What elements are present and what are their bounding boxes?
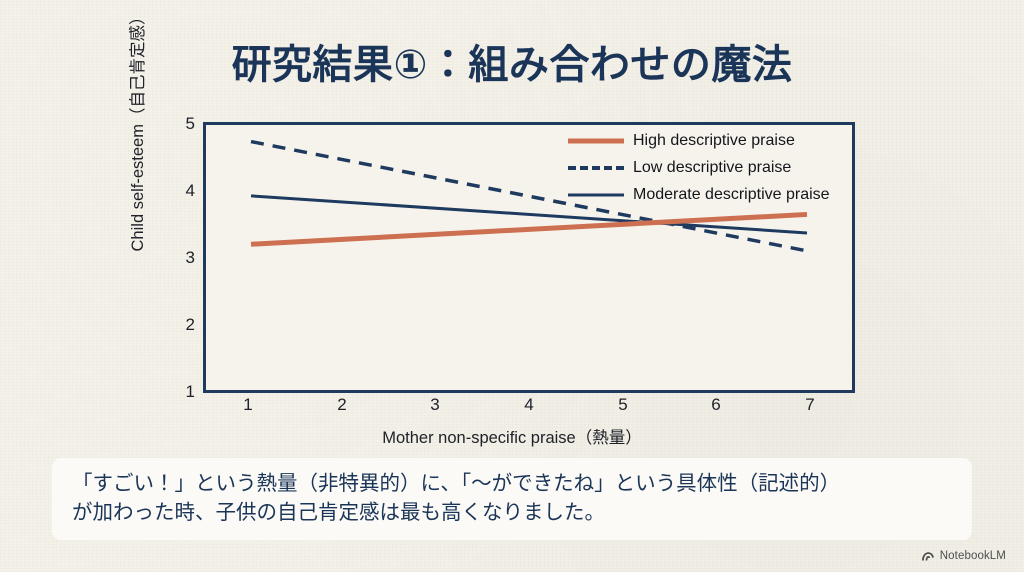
- x-axis-label: Mother non-specific praise（熱量）: [0, 424, 1024, 448]
- legend-label-moderate: Moderate descriptive praise: [633, 186, 830, 204]
- y-tick-4: 4: [169, 182, 195, 199]
- x-tick-5: 5: [603, 396, 643, 413]
- x-tick-4: 4: [509, 396, 549, 413]
- chart-legend: High descriptive praise Low descriptive …: [568, 130, 830, 206]
- caption-line-1: 「すごい！」という熱量（非特異的）に、「〜ができたね」という具体性（記述的）: [72, 469, 954, 498]
- x-tick-3: 3: [415, 396, 455, 413]
- y-tick-2: 2: [169, 316, 195, 333]
- notebooklm-logo-icon: [921, 550, 935, 562]
- legend-label-high: High descriptive praise: [633, 132, 795, 150]
- chart-container: Child self-esteem（自己肯定感） 5 4 3 2 1 High …: [0, 0, 1024, 452]
- watermark-label: NotebookLM: [940, 550, 1006, 562]
- x-tick-6: 6: [696, 396, 736, 413]
- y-axis-ticks: 5 4 3 2 1: [163, 0, 195, 452]
- x-tick-2: 2: [322, 396, 362, 413]
- legend-item-low: Low descriptive praise: [568, 157, 830, 179]
- caption-line-2: が加わった時、子供の自己肯定感は最も高くなりました。: [72, 498, 954, 527]
- series-line-high-descriptive-praise: [251, 214, 807, 244]
- legend-label-low: Low descriptive praise: [633, 159, 791, 177]
- notebooklm-watermark: NotebookLM: [921, 550, 1006, 562]
- caption-panel: 「すごい！」という熱量（非特異的）に、「〜ができたね」という具体性（記述的） が…: [52, 458, 972, 540]
- x-axis-ticks: 1 2 3 4 5 6 7: [0, 396, 1024, 422]
- y-axis-label: Child self-esteem（自己肯定感）: [124, 0, 148, 270]
- y-tick-3: 3: [169, 249, 195, 266]
- x-tick-1: 1: [228, 396, 268, 413]
- y-tick-5: 5: [169, 115, 195, 132]
- legend-item-high: High descriptive praise: [568, 130, 830, 152]
- x-tick-7: 7: [790, 396, 830, 413]
- legend-item-moderate: Moderate descriptive praise: [568, 184, 830, 206]
